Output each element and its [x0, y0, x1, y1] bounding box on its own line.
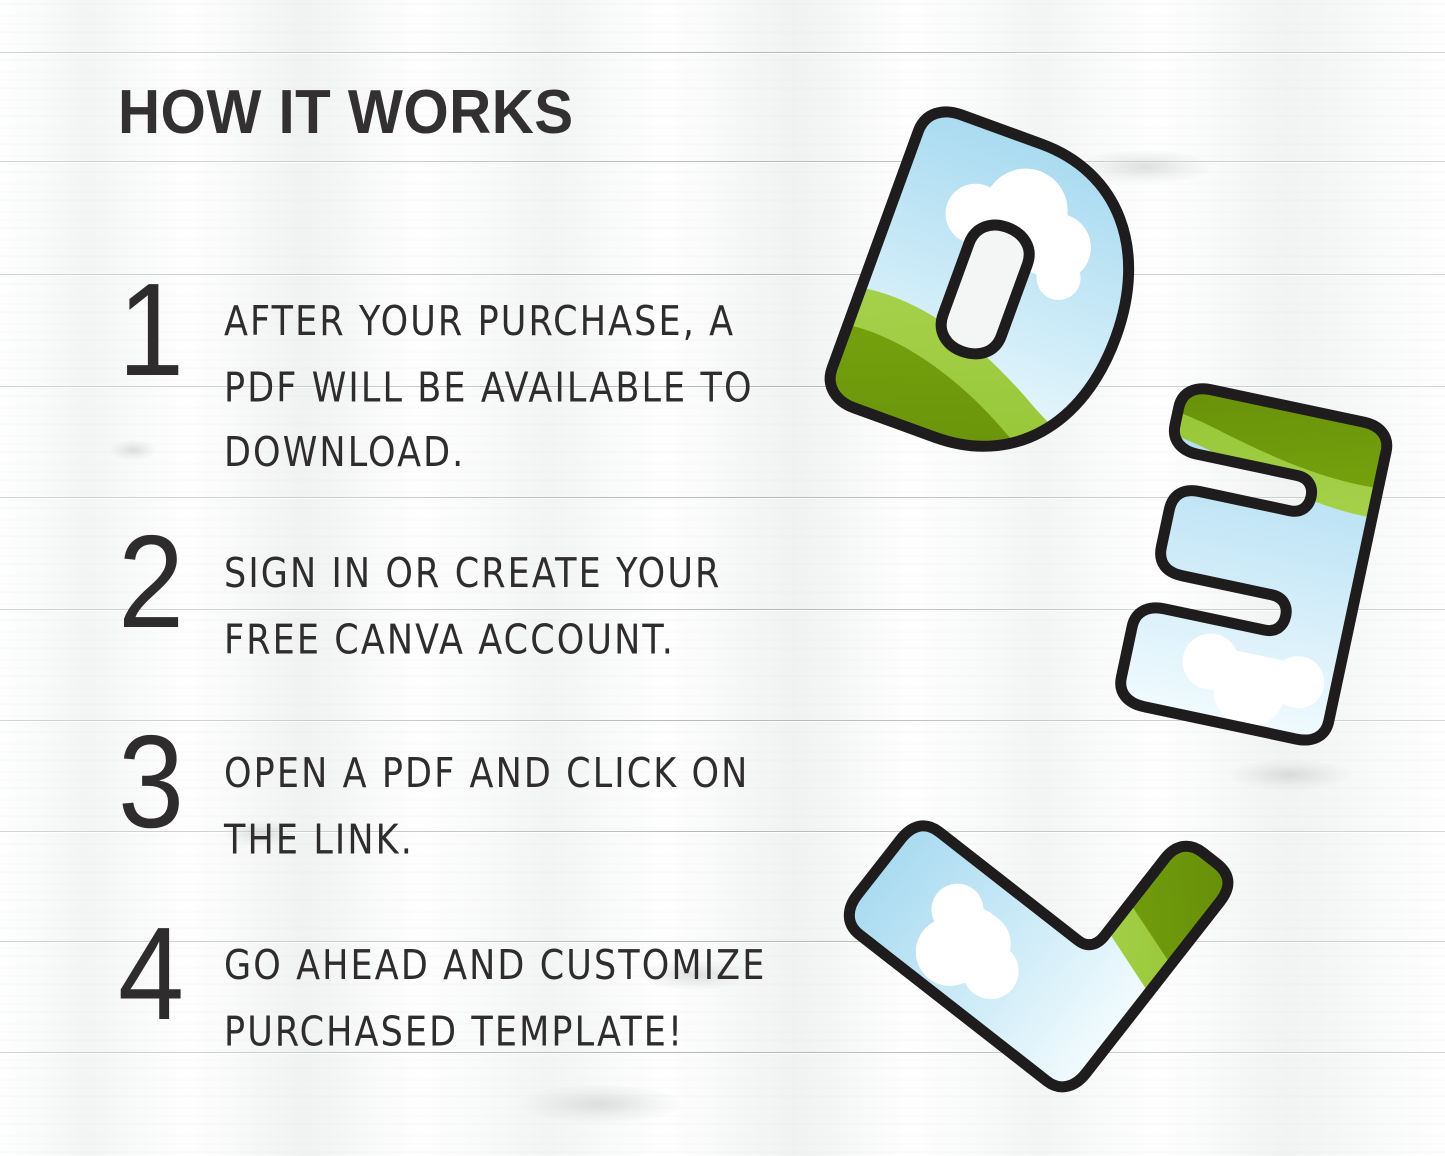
step-item-4: 4 GO AHEAD AND CUSTOMIZE PURCHASED TEMPL… — [118, 920, 766, 1045]
step-number-1: 1 — [118, 276, 213, 384]
wood-knot — [1230, 760, 1350, 790]
step-text-3: OPEN A PDF AND CLICK ON THE LINK. — [224, 728, 749, 873]
step-1-line-2: PDF WILL BE AVAILABLE TO — [224, 356, 754, 422]
step-3-line-2: THE LINK. — [224, 808, 749, 874]
step-text-4: GO AHEAD AND CUSTOMIZE PURCHASED TEMPLAT… — [224, 920, 766, 1065]
step-number-4: 4 — [118, 920, 213, 1028]
step-3-line-1: OPEN A PDF AND CLICK ON — [224, 742, 749, 808]
step-2-line-2: FREE CANVA ACCOUNT. — [224, 608, 721, 674]
step-number-2: 2 — [118, 528, 213, 636]
step-1-line-3: DOWNLOAD. — [224, 421, 754, 487]
page-title: HOW IT WORKS — [118, 82, 574, 144]
step-item-1: 1 AFTER YOUR PURCHASE, A PDF WILL BE AVA… — [118, 276, 754, 458]
step-4-line-2: PURCHASED TEMPLATE! — [224, 1000, 766, 1066]
step-text-2: SIGN IN OR CREATE YOUR FREE CANVA ACCOUN… — [224, 528, 721, 673]
step-1-line-1: AFTER YOUR PURCHASE, A — [224, 290, 754, 356]
step-4-line-1: GO AHEAD AND CUSTOMIZE — [224, 934, 766, 1000]
wood-knot — [520, 1085, 680, 1123]
step-number-3: 3 — [118, 728, 213, 836]
how-it-works-poster: HOW IT WORKS 1 AFTER YOUR PURCHASE, A PD… — [0, 0, 1445, 1156]
step-item-3: 3 OPEN A PDF AND CLICK ON THE LINK. — [118, 728, 749, 853]
step-2-line-1: SIGN IN OR CREATE YOUR — [224, 542, 721, 608]
step-text-1: AFTER YOUR PURCHASE, A PDF WILL BE AVAIL… — [224, 276, 754, 487]
step-item-2: 2 SIGN IN OR CREATE YOUR FREE CANVA ACCO… — [118, 528, 721, 653]
